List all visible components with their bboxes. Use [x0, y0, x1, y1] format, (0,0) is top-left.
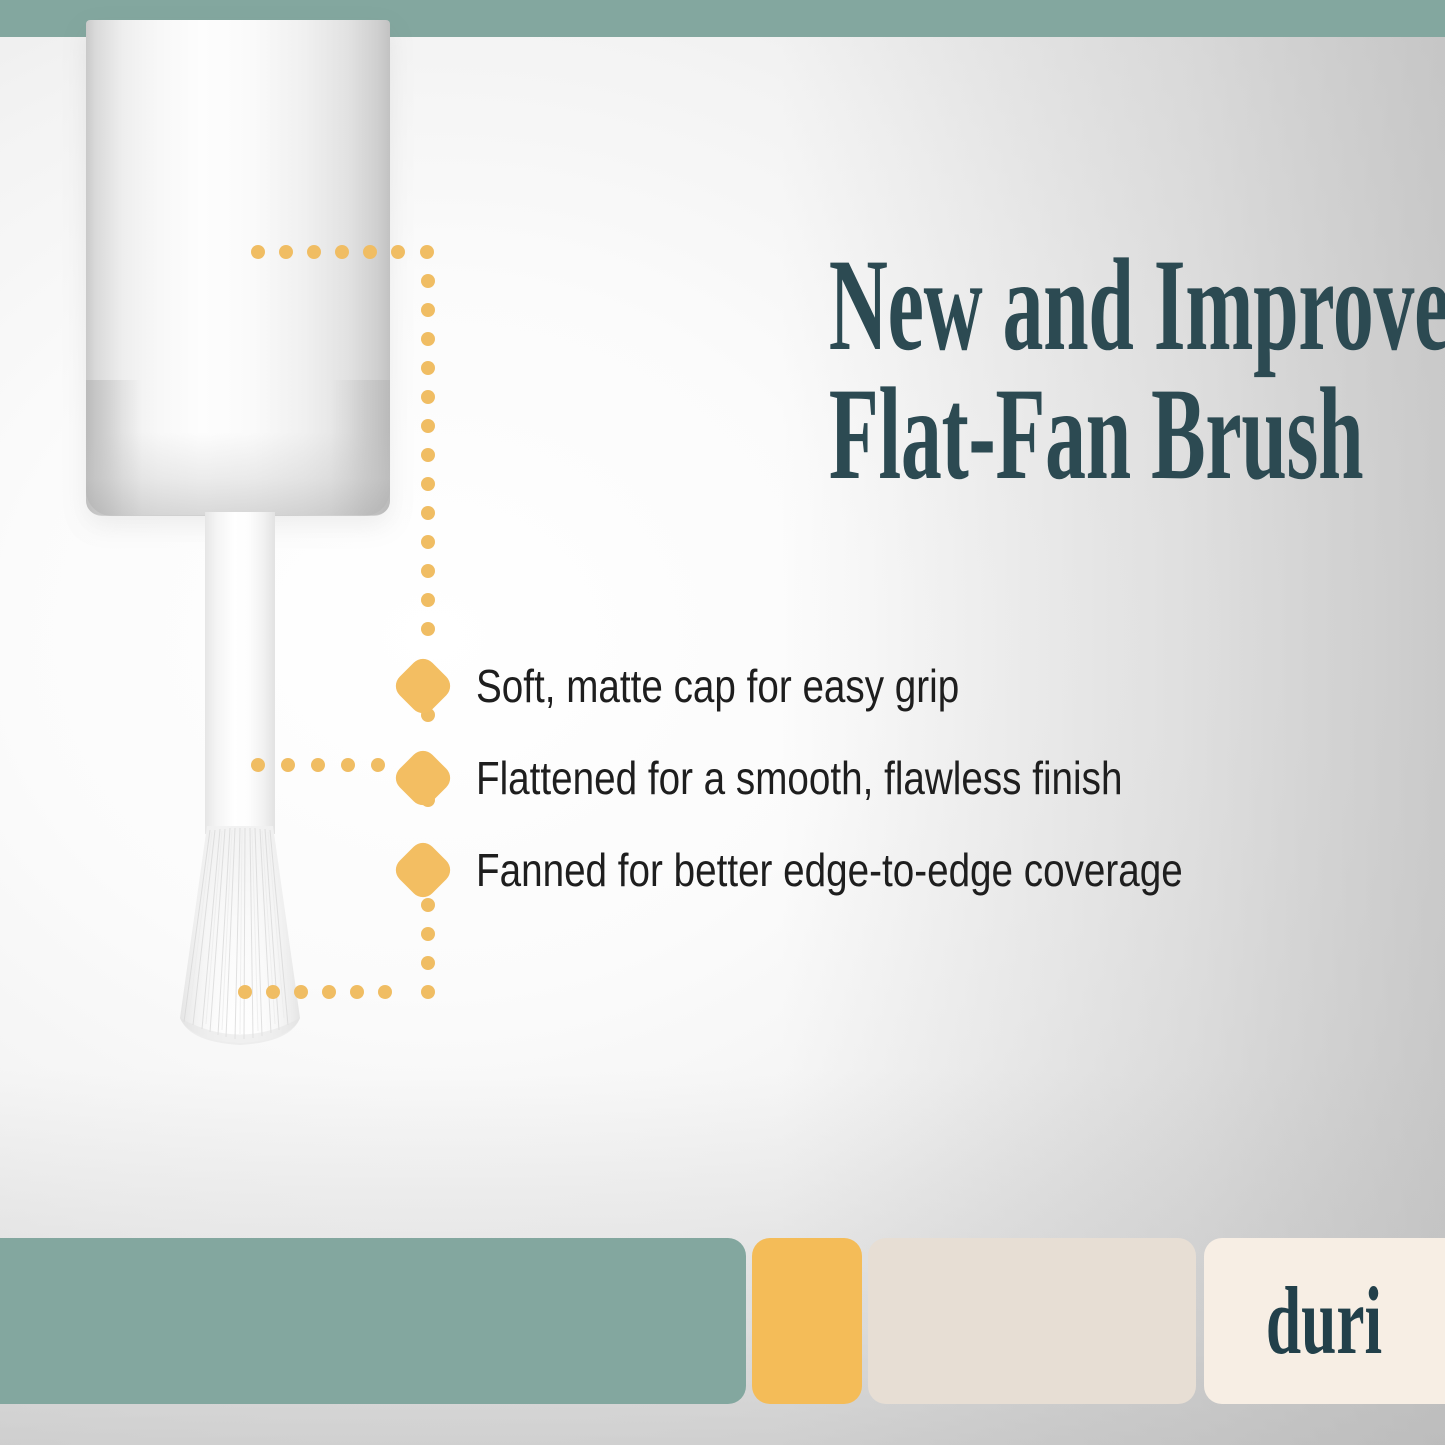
diamond-bullet-icon: [390, 653, 455, 718]
brand-logo: duri: [1204, 1238, 1445, 1404]
footer-panel-gold: [752, 1238, 862, 1404]
infographic-canvas: New and Improved Flat-Fan Brush Soft, ma…: [0, 0, 1445, 1445]
feature-text: Soft, matte cap for easy grip: [476, 663, 1244, 709]
page-title: New and Improved Flat-Fan Brush: [829, 240, 1300, 499]
brush-bristles-icon: [150, 826, 330, 1051]
list-item: Flattened for a smooth, flawless finish: [400, 732, 1390, 824]
product-image: [0, 0, 460, 1100]
feature-text: Fanned for better edge-to-edge coverage: [476, 847, 1244, 893]
brand-name: duri: [1266, 1273, 1382, 1369]
diamond-bullet-icon: [390, 837, 455, 902]
footer-panel-green: [0, 1238, 746, 1404]
diamond-bullet-icon: [390, 745, 455, 810]
feature-list: Soft, matte cap for easy grip Flattened …: [400, 640, 1390, 916]
cap-bottom-shading: [86, 432, 390, 516]
headline-line-1: New and Improved: [829, 240, 1300, 369]
headline-line-2: Flat-Fan Brush: [829, 369, 1300, 498]
footer-bar: duri: [0, 1210, 1445, 1445]
footer-panel-cream: duri: [1204, 1238, 1445, 1404]
list-item: Soft, matte cap for easy grip: [400, 640, 1390, 732]
list-item: Fanned for better edge-to-edge coverage: [400, 824, 1390, 916]
feature-text: Flattened for a smooth, flawless finish: [476, 755, 1244, 801]
brush-stem-icon: [205, 512, 275, 834]
footer-panel-beige: [868, 1238, 1196, 1404]
